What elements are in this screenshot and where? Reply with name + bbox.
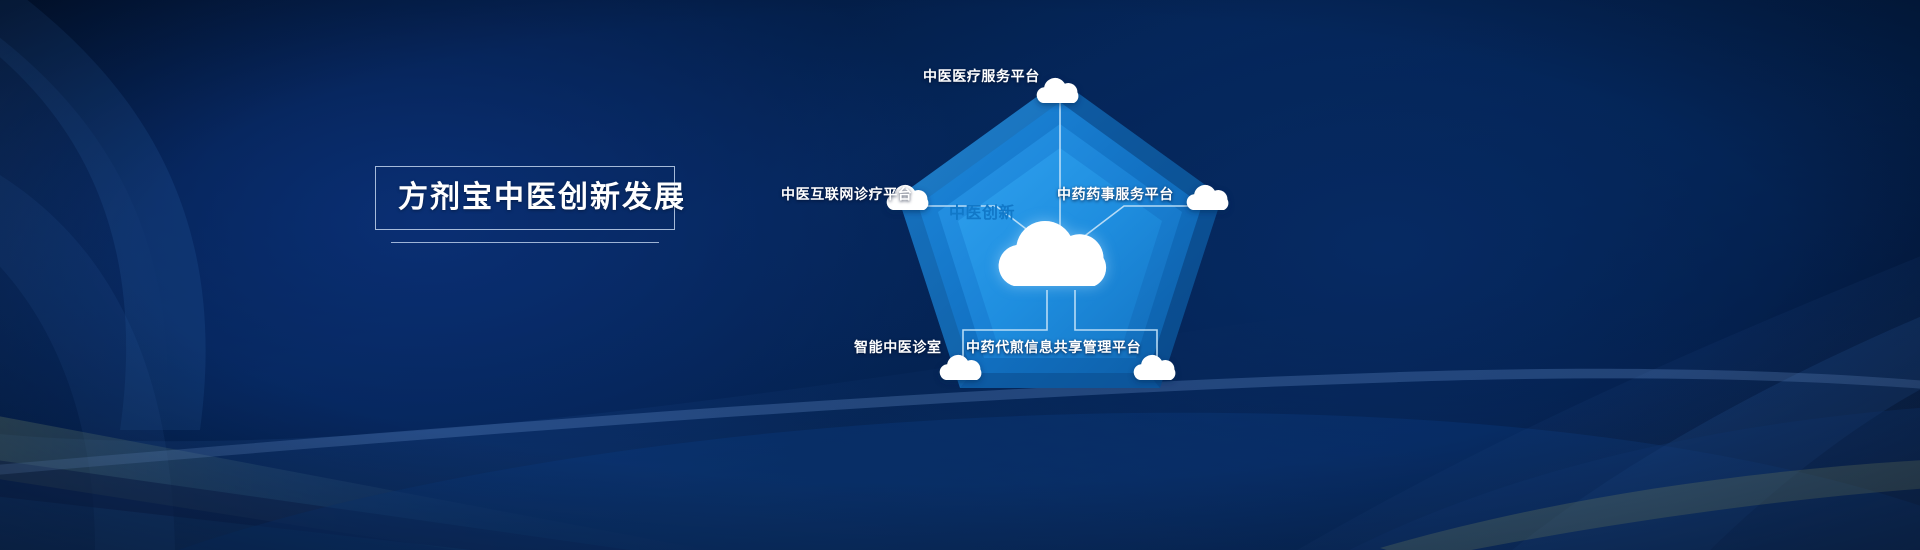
cloud-icon-top[interactable] (1037, 78, 1079, 103)
pentagon-diagram (800, 40, 1320, 440)
node-label-top: 中医医疗服务平台 (923, 66, 1040, 86)
headline-block: 方剂宝中医创新发展 (375, 166, 675, 243)
node-label-right: 中药药事服务平台 (1057, 184, 1174, 204)
page-title: 方剂宝中医创新发展 (398, 181, 652, 214)
center-hub-label: 中医创新 (940, 199, 1024, 223)
headline-underline (391, 242, 659, 243)
node-label-bottom-right: 中药代煎信息共享管理平台 (966, 337, 1141, 357)
pentagon-diagram-svg (800, 40, 1320, 440)
node-label-bottom-left: 智能中医诊室 (854, 337, 942, 357)
hero-banner: 方剂宝中医创新发展 (0, 0, 1920, 550)
node-label-left: 中医互联网诊疗平台 (781, 184, 912, 204)
headline-box: 方剂宝中医创新发展 (375, 166, 675, 230)
